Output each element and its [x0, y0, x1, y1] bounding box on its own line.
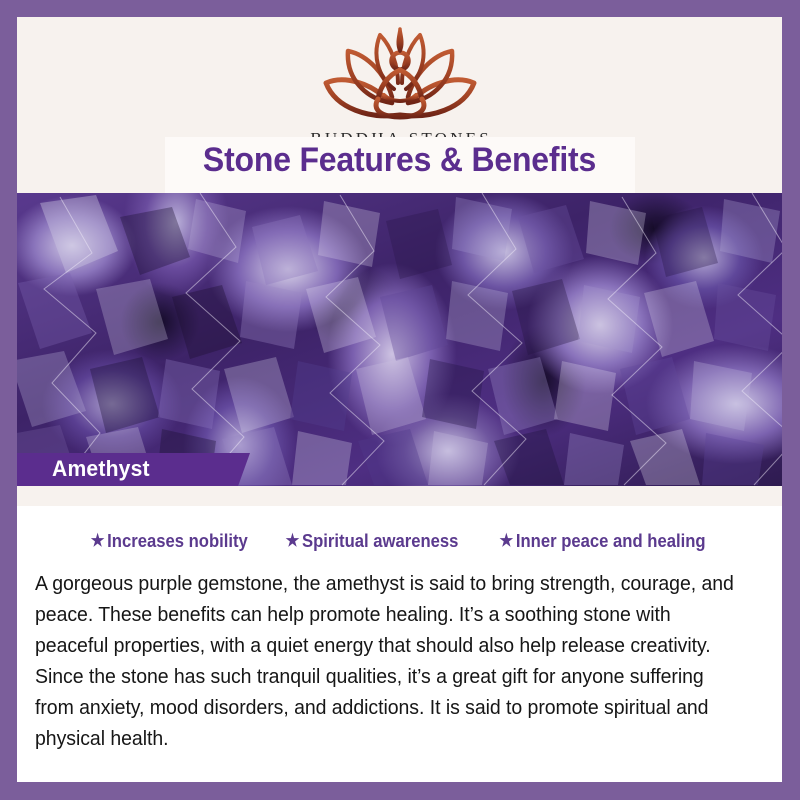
cream-divider-strip — [17, 486, 782, 506]
benefit-item: ★ Inner peace and healing — [500, 530, 706, 552]
brand-logo: BUDDHA STONES — [17, 23, 782, 149]
hero-image: Amethyst — [17, 193, 782, 486]
star-icon: ★ — [90, 532, 104, 549]
poster-root: BUDDHA STONES Stone Features & Benefits — [0, 0, 800, 800]
page-inner: BUDDHA STONES Stone Features & Benefits — [17, 17, 782, 782]
header: BUDDHA STONES Stone Features & Benefits — [17, 17, 782, 193]
benefit-item: ★ Spiritual awareness — [286, 530, 459, 552]
benefit-label: Spiritual awareness — [302, 530, 458, 552]
lotus-meditation-icon — [314, 23, 486, 127]
benefits-list: ★ Increases nobility ★ Spiritual awarene… — [17, 530, 782, 552]
stone-name-label: Amethyst — [52, 456, 150, 482]
benefit-label: Inner peace and healing — [516, 530, 706, 552]
benefit-label: Increases nobility — [107, 530, 248, 552]
crystal-facet-overlay — [17, 193, 782, 486]
star-icon: ★ — [286, 532, 300, 549]
page-title: Stone Features & Benefits — [40, 141, 759, 180]
benefit-item: ★ Increases nobility — [90, 530, 247, 552]
stone-description: A gorgeous purple gemstone, the amethyst… — [35, 568, 740, 754]
star-icon: ★ — [500, 532, 514, 549]
content-panel: ★ Increases nobility ★ Spiritual awarene… — [17, 506, 782, 782]
